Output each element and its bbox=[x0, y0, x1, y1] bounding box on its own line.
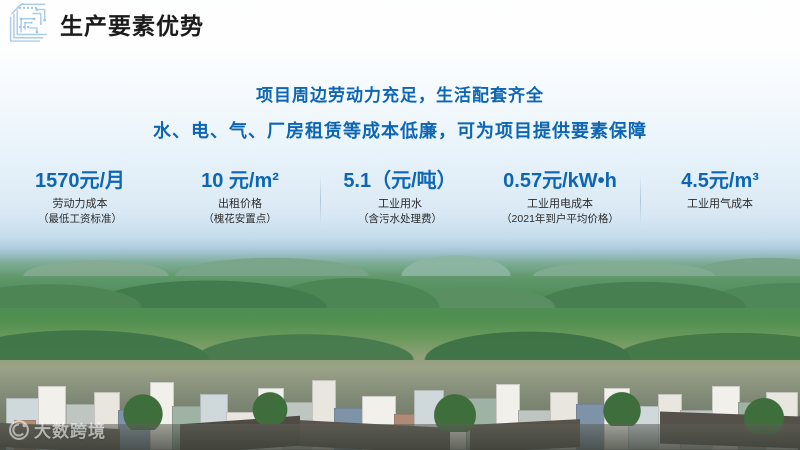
stat-value: 4.5元/m³ bbox=[644, 168, 796, 194]
stat-label: 劳动力成本 bbox=[4, 197, 156, 212]
stat-item-industrial-water: 5.1（元/吨） 工业用水 （含污水处理费） bbox=[320, 168, 480, 227]
headline-line-1: 项目周边劳动力充足，生活配套齐全 bbox=[0, 82, 800, 110]
stat-value: 1570元/月 bbox=[4, 168, 156, 194]
stat-label: 工业用电成本 bbox=[484, 197, 636, 212]
stat-value: 0.57元/kW•h bbox=[484, 168, 636, 194]
stat-label: 出租价格 bbox=[164, 197, 316, 212]
town-buildings bbox=[0, 300, 800, 450]
stat-value: 10 元/m² bbox=[164, 168, 316, 194]
stat-item-rent-price: 10 元/m² 出租价格 （槐花安置点） bbox=[160, 168, 320, 227]
stat-sublabel: （2021年到户平均价格） bbox=[484, 212, 636, 227]
stat-divider bbox=[320, 174, 321, 226]
stat-label: 工业用气成本 bbox=[644, 197, 796, 212]
stats-row: 1570元/月 劳动力成本 （最低工资标准） 10 元/m² 出租价格 （槐花安… bbox=[0, 168, 800, 236]
slide-canvas: 生产要素优势 项目周边劳动力充足，生活配套齐全 水、电、气、厂房租赁等成本低廉，… bbox=[0, 0, 800, 450]
stat-sublabel: （最低工资标准） bbox=[4, 212, 156, 227]
page-title: 生产要素优势 bbox=[60, 7, 204, 41]
stat-label: 工业用水 bbox=[324, 197, 476, 212]
stat-value: 5.1（元/吨） bbox=[324, 168, 476, 194]
stat-item-labor-cost: 1570元/月 劳动力成本 （最低工资标准） bbox=[0, 168, 160, 227]
stat-sublabel: （含污水处理费） bbox=[324, 212, 476, 227]
street bbox=[0, 424, 800, 450]
headline-line-2: 水、电、气、厂房租赁等成本低廉，可为项目提供要素保障 bbox=[0, 116, 800, 146]
stat-sublabel: （槐花安置点） bbox=[164, 212, 316, 227]
stat-item-industrial-gas: 4.5元/m³ 工业用气成本 bbox=[640, 168, 800, 212]
circuit-chip-icon bbox=[8, 3, 50, 45]
stat-item-industrial-electricity: 0.57元/kW•h 工业用电成本 （2021年到户平均价格） bbox=[480, 168, 640, 227]
headline-block: 项目周边劳动力充足，生活配套齐全 水、电、气、厂房租赁等成本低廉，可为项目提供要… bbox=[0, 82, 800, 146]
slide-header: 生产要素优势 bbox=[0, 0, 800, 48]
stat-divider bbox=[640, 174, 641, 226]
